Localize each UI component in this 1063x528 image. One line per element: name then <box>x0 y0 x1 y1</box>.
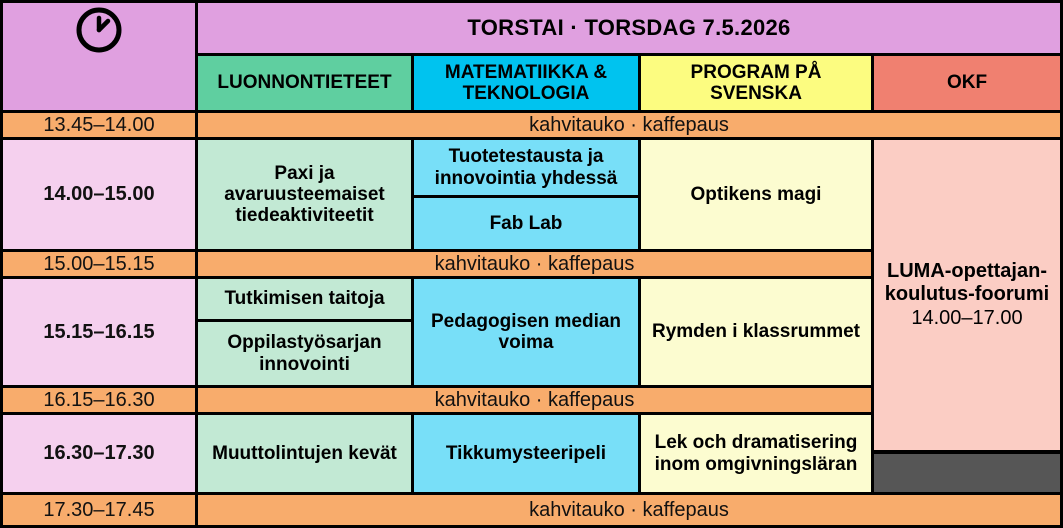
session-label: Rymden i klassrummet <box>645 321 867 342</box>
session-math-1a[interactable]: Tuotetestausta ja innovointia yhdessä <box>411 137 641 198</box>
session-label: Paxi ja avaruusteemaiset tiedeaktiviteet… <box>202 163 407 227</box>
session-label: Pedagogisen median voima <box>418 311 634 354</box>
header-clock-cell <box>0 0 198 113</box>
session-label: Optikens magi <box>645 184 867 205</box>
break-time-2: 15.00–15.15 <box>0 249 198 279</box>
break-row-2: kahvitauko · kaffepaus <box>195 249 874 279</box>
okf-empty-block <box>871 451 1063 495</box>
session-label: Tutkimisen taitoja <box>202 288 407 309</box>
break-row-3: kahvitauko · kaffepaus <box>195 385 874 415</box>
session-swedish-3[interactable]: Lek och dramatisering inom omgivningslär… <box>638 412 874 495</box>
slot-time-1: 14.00–15.00 <box>0 137 198 252</box>
schedule-table: TORSTAI · TORSDAG 7.5.2026 LUONNONTIETEE… <box>0 0 1063 528</box>
track-label-okf: OKF <box>878 72 1056 93</box>
break-label-1: kahvitauko · kaffepaus <box>202 114 1056 136</box>
break-label-3: kahvitauko · kaffepaus <box>202 389 867 411</box>
break-time-label-2: 15.00–15.15 <box>7 253 191 275</box>
header-track-okf: OKF <box>871 53 1063 113</box>
break-label-2: kahvitauko · kaffepaus <box>202 253 867 275</box>
session-label: Tuotetestausta ja innovointia yhdessä <box>418 146 634 189</box>
break-row-4: kahvitauko · kaffepaus <box>195 492 1063 528</box>
session-science-3[interactable]: Muuttolintujen kevät <box>195 412 414 495</box>
session-label: Fab Lab <box>418 213 634 234</box>
break-time-label-3: 16.15–16.30 <box>7 389 191 411</box>
break-time-label-4: 17.30–17.45 <box>7 499 191 521</box>
slot-time-label-2: 15.15–16.15 <box>7 321 191 343</box>
header-day-title: TORSTAI · TORSDAG 7.5.2026 <box>195 0 1063 56</box>
okf-time-label: 14.00–17.00 <box>878 307 1056 329</box>
session-science-2b[interactable]: Oppilastyösarjan innovointi <box>195 319 414 388</box>
session-science-1[interactable]: Paxi ja avaruusteemaiset tiedeaktiviteet… <box>195 137 414 252</box>
session-label: Muuttolintujen kevät <box>202 443 407 464</box>
session-math-3[interactable]: Tikkumysteeripeli <box>411 412 641 495</box>
track-label-science: LUONNONTIETEET <box>202 72 407 93</box>
header-track-science: LUONNONTIETEET <box>195 53 414 113</box>
session-math-2[interactable]: Pedagogisen median voima <box>411 276 641 388</box>
break-label-4: kahvitauko · kaffepaus <box>202 499 1056 521</box>
session-label: Oppilastyösarjan innovointi <box>202 332 407 375</box>
track-label-math: MATEMATIIKKA & TEKNOLOGIA <box>418 62 634 105</box>
session-swedish-2[interactable]: Rymden i klassrummet <box>638 276 874 388</box>
break-time-3: 16.15–16.30 <box>0 385 198 415</box>
session-label: Lek och dramatisering inom omgivningslär… <box>645 432 867 475</box>
session-science-2a[interactable]: Tutkimisen taitoja <box>195 276 414 322</box>
clock-icon <box>7 4 191 109</box>
okf-title-label: LUMA-opettajan-koulutus-foorumi <box>878 260 1056 305</box>
break-time-label-1: 13.45–14.00 <box>7 114 191 136</box>
session-okf-forum[interactable]: LUMA-opettajan-koulutus-foorumi 14.00–17… <box>871 137 1063 453</box>
break-time-1: 13.45–14.00 <box>0 110 198 140</box>
slot-time-3: 16.30–17.30 <box>0 412 198 495</box>
session-math-1b[interactable]: Fab Lab <box>411 195 641 252</box>
session-label: Tikkumysteeripeli <box>418 443 634 464</box>
break-row-1: kahvitauko · kaffepaus <box>195 110 1063 140</box>
header-track-math: MATEMATIIKKA & TEKNOLOGIA <box>411 53 641 113</box>
session-swedish-1[interactable]: Optikens magi <box>638 137 874 252</box>
slot-time-label-1: 14.00–15.00 <box>7 183 191 205</box>
slot-time-label-3: 16.30–17.30 <box>7 442 191 464</box>
track-label-swedish: PROGRAM PÅ SVENSKA <box>645 62 867 105</box>
day-title-label: TORSTAI · TORSDAG 7.5.2026 <box>202 16 1056 41</box>
slot-time-2: 15.15–16.15 <box>0 276 198 388</box>
header-track-swedish: PROGRAM PÅ SVENSKA <box>638 53 874 113</box>
break-time-4: 17.30–17.45 <box>0 492 198 528</box>
